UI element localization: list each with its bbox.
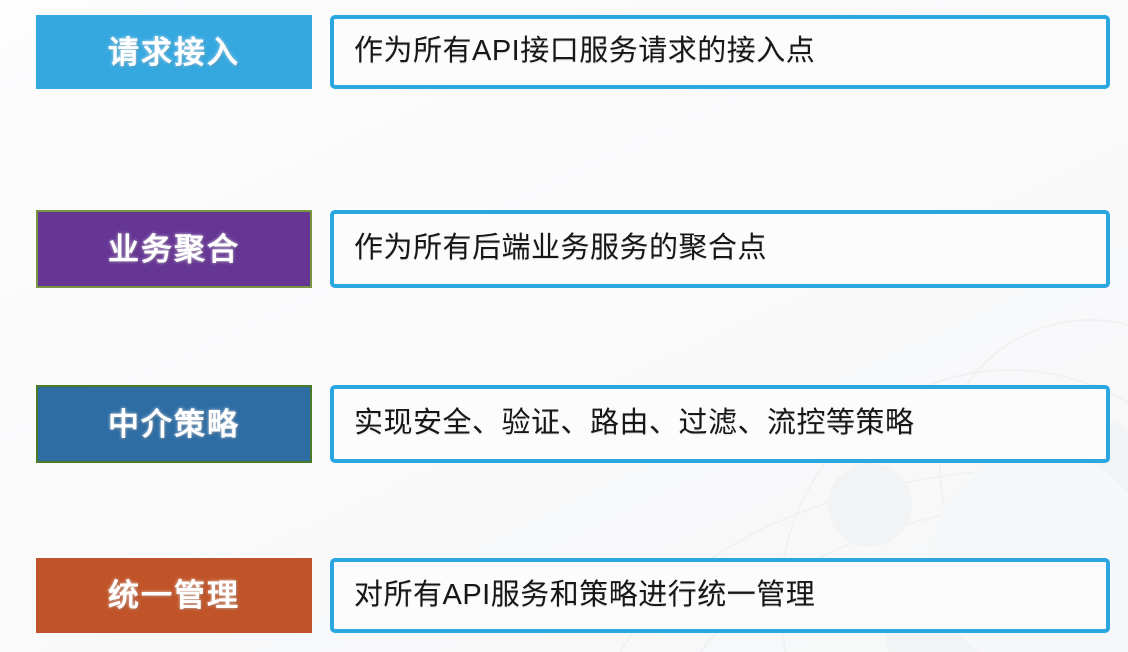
row-3-chip[interactable]: 中介策略 xyxy=(36,385,312,463)
row-1-chip-label: 请求接入 xyxy=(108,37,240,68)
row-3-description-box[interactable]: 实现安全、验证、路由、过滤、流控等策略 xyxy=(330,385,1110,463)
slide-canvas: 请求接入 作为所有API接口服务请求的接入点 业务聚合 作为所有后端业务服务的聚… xyxy=(0,0,1128,652)
row-4-chip[interactable]: 统一管理 xyxy=(36,558,312,633)
row-4-chip-label: 统一管理 xyxy=(108,580,240,611)
diagram-row: 中介策略 实现安全、验证、路由、过滤、流控等策略 xyxy=(0,385,1128,463)
row-3-chip-label: 中介策略 xyxy=(108,409,240,440)
row-2-description-text: 作为所有后端业务服务的聚合点 xyxy=(354,233,767,265)
diagram-row: 统一管理 对所有API服务和策略进行统一管理 xyxy=(0,558,1128,633)
row-1-chip[interactable]: 请求接入 xyxy=(36,15,312,89)
diagram-row: 请求接入 作为所有API接口服务请求的接入点 xyxy=(0,15,1128,89)
row-1-description-box[interactable]: 作为所有API接口服务请求的接入点 xyxy=(330,15,1110,89)
rows-container: 请求接入 作为所有API接口服务请求的接入点 业务聚合 作为所有后端业务服务的聚… xyxy=(0,0,1128,652)
diagram-row: 业务聚合 作为所有后端业务服务的聚合点 xyxy=(0,210,1128,288)
row-4-description-text: 对所有API服务和策略进行统一管理 xyxy=(354,580,815,612)
row-4-description-box[interactable]: 对所有API服务和策略进行统一管理 xyxy=(330,558,1110,633)
row-2-chip-label: 业务聚合 xyxy=(108,234,240,265)
row-1-description-text: 作为所有API接口服务请求的接入点 xyxy=(354,36,815,68)
row-3-description-text: 实现安全、验证、路由、过滤、流控等策略 xyxy=(354,408,915,440)
row-2-description-box[interactable]: 作为所有后端业务服务的聚合点 xyxy=(330,210,1110,288)
row-2-chip[interactable]: 业务聚合 xyxy=(36,210,312,288)
